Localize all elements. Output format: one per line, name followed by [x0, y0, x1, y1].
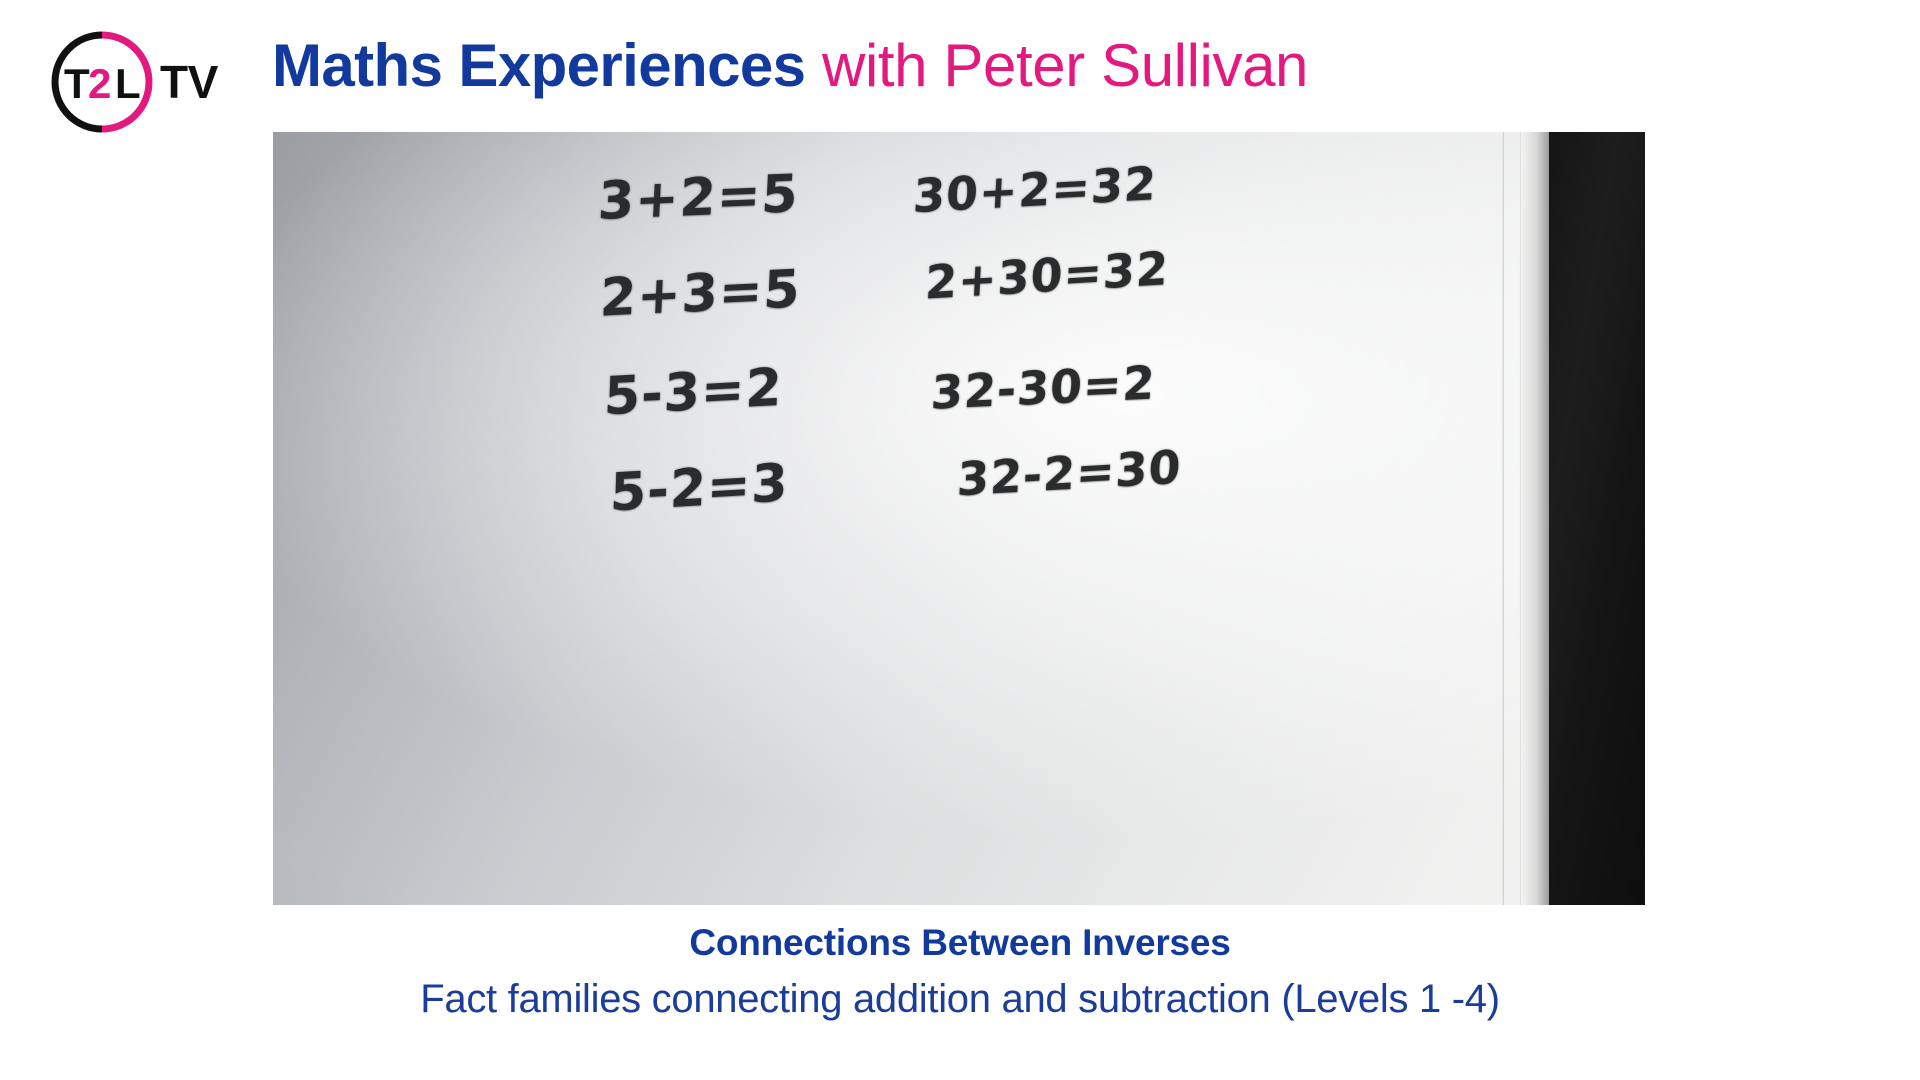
svg-text:T: T	[64, 60, 90, 107]
logo-tv-text: TV	[160, 59, 218, 105]
svg-text:L: L	[115, 60, 141, 107]
equation-line: 5-3=2	[603, 361, 801, 423]
whiteboard-right-edge	[1521, 132, 1549, 905]
equation-line: 2+3=5	[599, 263, 802, 324]
equation-line: 2+30=32	[924, 244, 1182, 305]
dark-wall-band	[1549, 132, 1645, 905]
caption-block: Connections Between Inverses Fact famili…	[0, 920, 1920, 1024]
equation-line: 5-2=3	[609, 456, 801, 519]
page-title-primary: Maths Experiences	[272, 32, 805, 99]
whiteboard-photo: 3+2=5 2+3=5 5-3=2 5-2=3 30+2=32 2+30=32 …	[273, 132, 1645, 905]
t2l-tv-logo: T 2 L TV	[48, 28, 218, 136]
slide-root: T 2 L TV Maths Experiences with Peter Su…	[0, 0, 1920, 1080]
slide-header: T 2 L TV Maths Experiences with Peter Su…	[0, 0, 1920, 132]
equation-line: 32-2=30	[956, 444, 1183, 503]
caption-subtitle: Fact families connecting addition and su…	[0, 974, 1920, 1024]
svg-text:2: 2	[88, 60, 111, 107]
handwriting-column-left: 3+2=5 2+3=5 5-3=2 5-2=3	[598, 172, 801, 514]
page-title: Maths Experiences with Peter Sullivan	[272, 34, 1872, 99]
caption-title: Connections Between Inverses	[0, 920, 1920, 966]
handwriting-column-right: 30+2=32 2+30=32 32-30=2 32-2=30	[913, 166, 1182, 496]
equation-line: 3+2=5	[597, 168, 802, 228]
page-title-secondary: with Peter Sullivan	[822, 32, 1308, 99]
equation-line: 30+2=32	[912, 159, 1183, 219]
equation-line: 32-30=2	[930, 358, 1183, 416]
t2l-circle-logo-icon: T 2 L	[48, 28, 156, 136]
whiteboard-seam-line	[1501, 132, 1504, 905]
